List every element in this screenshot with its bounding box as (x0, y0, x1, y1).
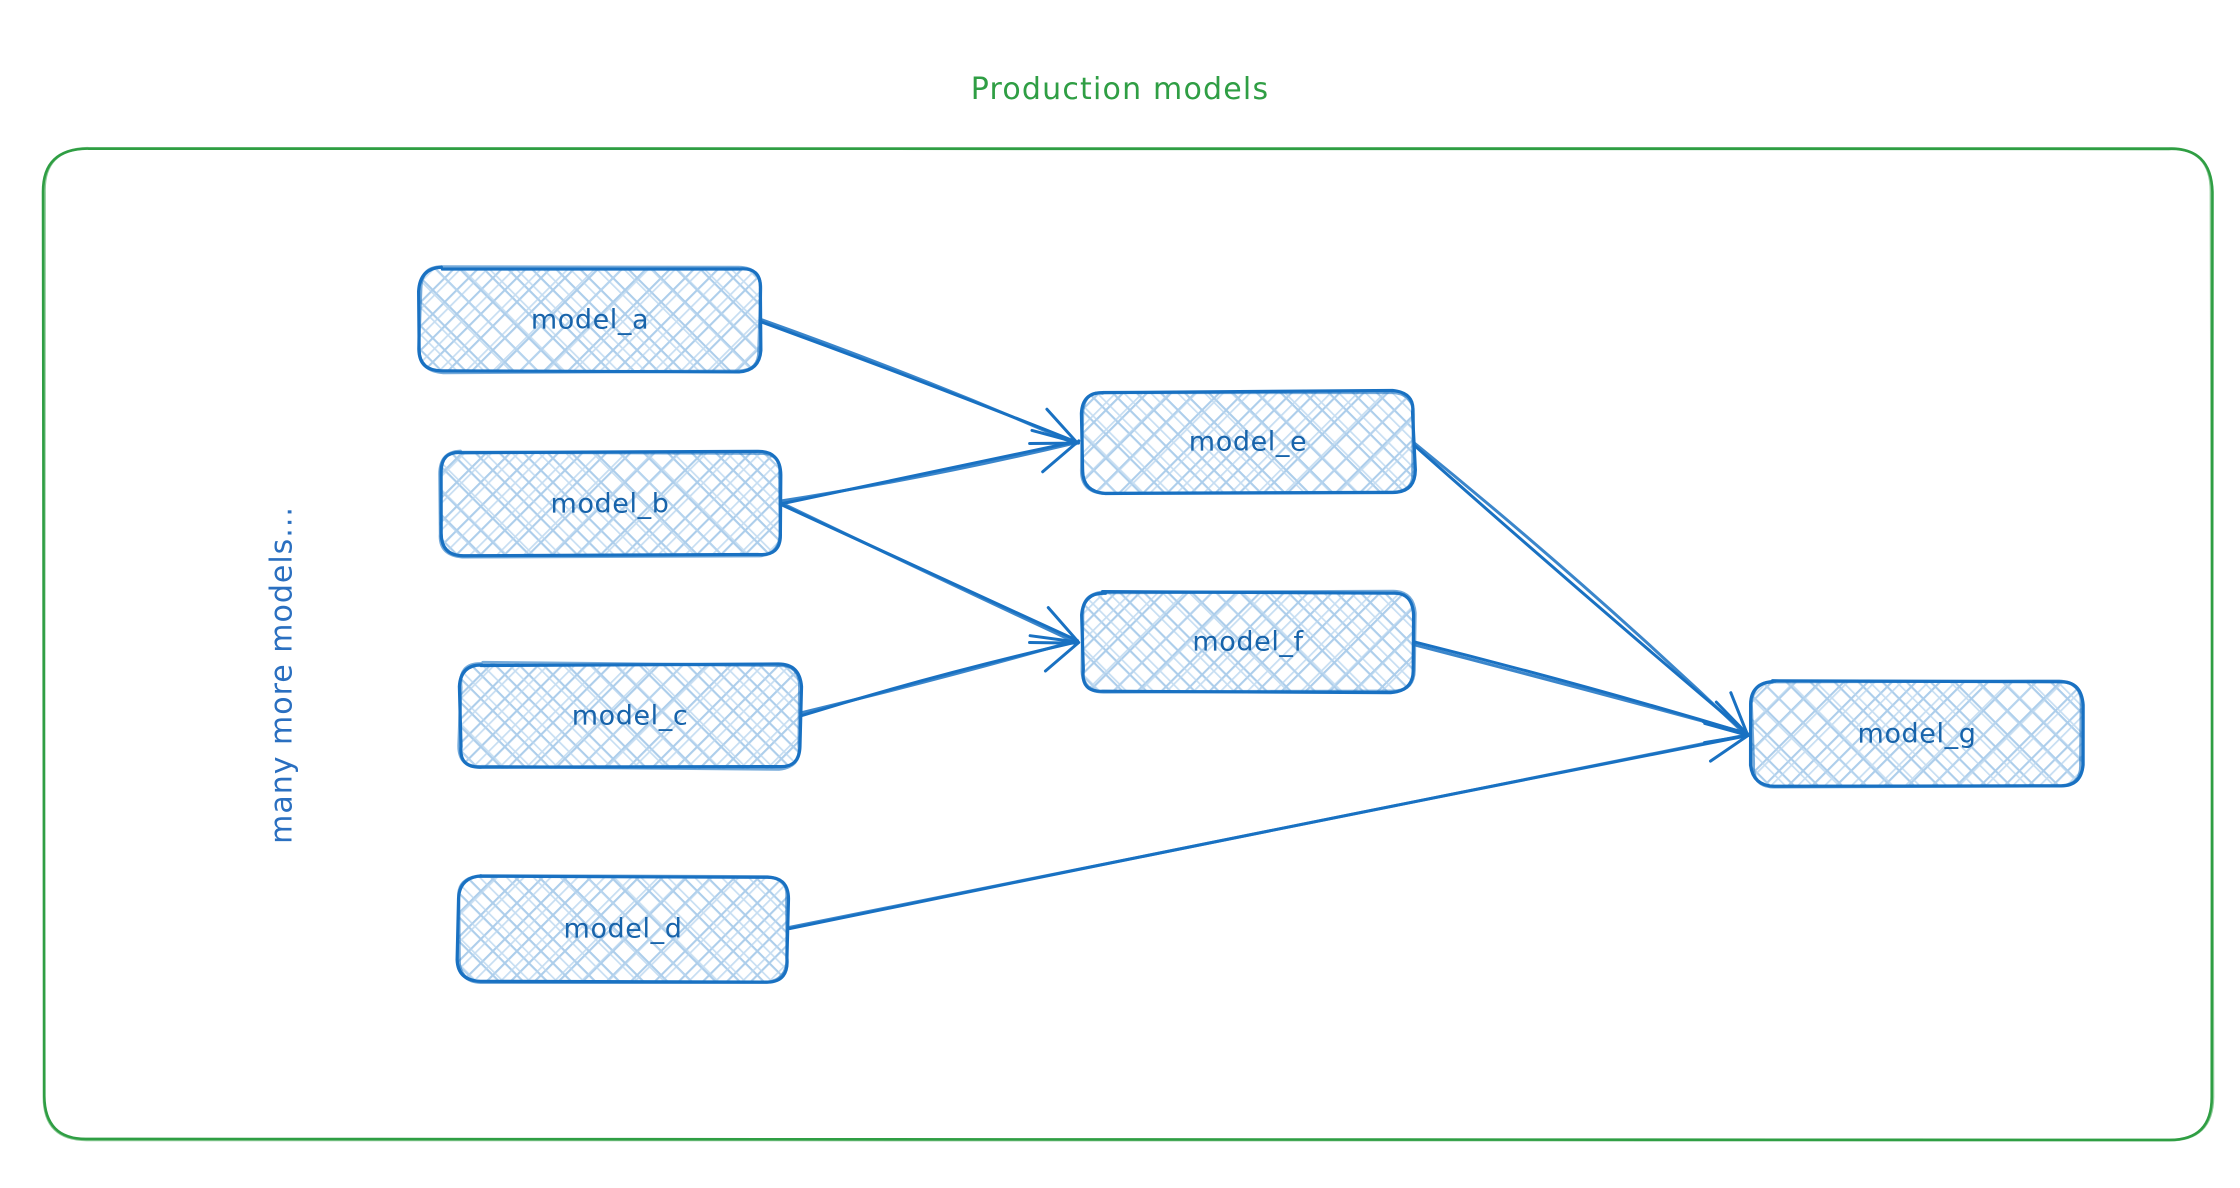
node-model_g[interactable] (1751, 681, 2084, 787)
diagram-svg (0, 0, 2240, 1188)
diagram-canvas: Production models model_amodel_bmodel_cm… (0, 0, 2240, 1188)
edge-model_b-to-model_f (778, 503, 1078, 644)
edge-model_a-to-model_e (758, 318, 1079, 444)
edge-model_b-to-model_e (778, 430, 1078, 504)
node-model_f[interactable] (1081, 591, 1415, 692)
node-model_d[interactable] (457, 876, 788, 983)
edge-model_e-to-model_g (1412, 442, 1747, 735)
node-model_a[interactable] (419, 267, 761, 373)
edge-model_c-to-model_f (799, 636, 1078, 717)
node-model_c[interactable] (459, 662, 802, 769)
node-layer (419, 267, 2084, 983)
edge-model_d-to-model_g (787, 722, 1748, 929)
node-model_e[interactable] (1081, 390, 1415, 493)
node-model_b[interactable] (439, 451, 781, 557)
